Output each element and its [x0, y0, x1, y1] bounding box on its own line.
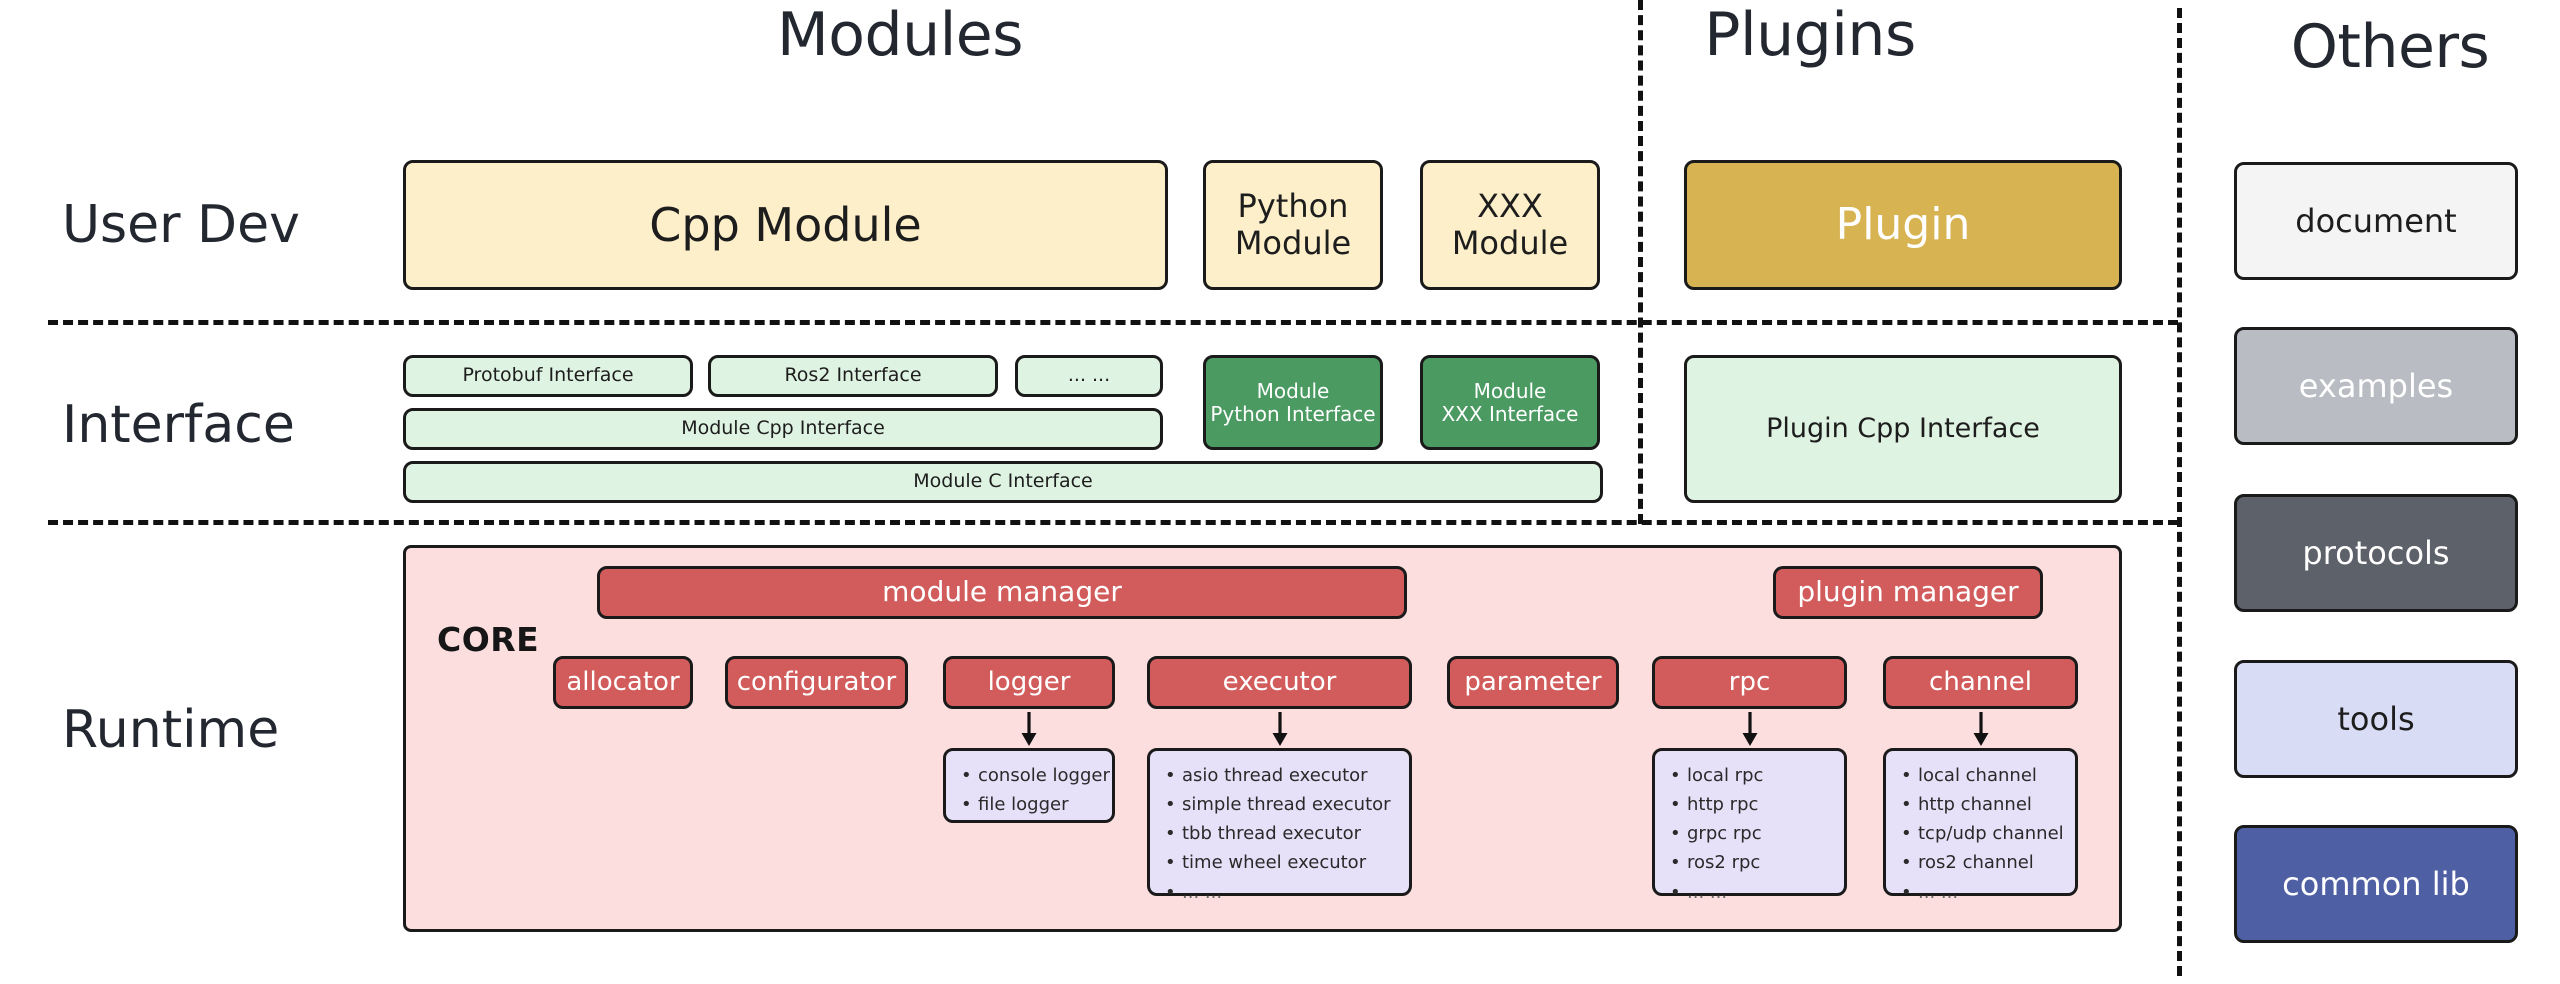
list-item: http channel — [1918, 790, 2067, 819]
list-item: ros2 channel — [1918, 848, 2067, 877]
logger-details-list: console loggerfile logger — [956, 761, 1104, 819]
xxx-module-label-line1: XXX — [1477, 188, 1543, 225]
list-item: simple thread executor — [1182, 790, 1401, 819]
rpc-details-list: local rpchttp rpcgrpc rpcros2 rpc... ... — [1665, 761, 1836, 907]
module-python-interface-line1: Module — [1257, 380, 1330, 403]
list-item: console logger — [978, 761, 1104, 790]
divider-interface-runtime — [48, 520, 2178, 525]
others-item-document[interactable]: document — [2234, 162, 2518, 280]
column-title-others: Others — [2230, 12, 2550, 82]
list-item: ... ... — [1687, 878, 1836, 907]
others-item-protocols[interactable]: protocols — [2234, 494, 2518, 612]
plugin-cpp-interface-box[interactable]: Plugin Cpp Interface — [1684, 355, 2122, 503]
component-allocator[interactable]: allocator — [553, 656, 693, 709]
ellipsis-interface-box[interactable]: ... ... — [1015, 355, 1163, 397]
core-label: CORE — [437, 620, 539, 659]
xxx-module-box[interactable]: XXX Module — [1420, 160, 1600, 290]
column-title-modules: Modules — [700, 0, 1100, 70]
component-configurator[interactable]: configurator — [725, 656, 908, 709]
list-item: asio thread executor — [1182, 761, 1401, 790]
component-rpc[interactable]: rpc — [1652, 656, 1847, 709]
others-item-tools[interactable]: tools — [2234, 660, 2518, 778]
component-channel[interactable]: channel — [1883, 656, 2078, 709]
divider-modules-plugins — [1638, 0, 1643, 524]
list-item: http rpc — [1687, 790, 1836, 819]
component-logger[interactable]: logger — [943, 656, 1115, 709]
channel-details-list: local channelhttp channeltcp/udp channel… — [1896, 761, 2067, 907]
list-item: ros2 rpc — [1687, 848, 1836, 877]
arrow-down-executor — [1267, 712, 1293, 748]
python-module-box[interactable]: Python Module — [1203, 160, 1383, 290]
others-item-common-lib[interactable]: common lib — [2234, 825, 2518, 943]
xxx-module-label-line2: Module — [1452, 225, 1568, 262]
list-item: tcp/udp channel — [1918, 819, 2067, 848]
column-title-plugins: Plugins — [1660, 0, 1960, 70]
list-item: local channel — [1918, 761, 2067, 790]
arrow-down-logger — [1016, 712, 1042, 748]
list-item: tbb thread executor — [1182, 819, 1401, 848]
row-label-runtime: Runtime — [62, 700, 279, 760]
list-item: ... ... — [1918, 878, 2067, 907]
divider-plugins-others — [2177, 8, 2182, 976]
architecture-diagram: Modules Plugins Others User Dev Interfac… — [0, 0, 2560, 984]
others-item-examples[interactable]: examples — [2234, 327, 2518, 445]
list-item: time wheel executor — [1182, 848, 1401, 877]
module-c-interface-box[interactable]: Module C Interface — [403, 461, 1603, 503]
executor-details-box: asio thread executorsimple thread execut… — [1147, 748, 1412, 896]
executor-details-list: asio thread executorsimple thread execut… — [1160, 761, 1401, 907]
logger-details-box: console loggerfile logger — [943, 748, 1115, 823]
list-item: local rpc — [1687, 761, 1836, 790]
protobuf-interface-box[interactable]: Protobuf Interface — [403, 355, 693, 397]
arrow-down-channel — [1968, 712, 1994, 748]
component-parameter[interactable]: parameter — [1447, 656, 1619, 709]
module-manager-box[interactable]: module manager — [597, 566, 1407, 619]
module-cpp-interface-box[interactable]: Module Cpp Interface — [403, 408, 1163, 450]
module-xxx-interface-line2: XXX Interface — [1441, 403, 1578, 426]
rpc-details-box: local rpchttp rpcgrpc rpcros2 rpc... ... — [1652, 748, 1847, 896]
list-item: file logger — [978, 790, 1104, 819]
python-module-label-line2: Module — [1235, 225, 1351, 262]
row-label-interface: Interface — [62, 395, 295, 455]
arrow-down-rpc — [1737, 712, 1763, 748]
list-item: ... ... — [1182, 878, 1401, 907]
module-python-interface-line2: Python Interface — [1210, 403, 1375, 426]
channel-details-box: local channelhttp channeltcp/udp channel… — [1883, 748, 2078, 896]
list-item: grpc rpc — [1687, 819, 1836, 848]
row-label-user-dev: User Dev — [62, 195, 300, 255]
plugin-box[interactable]: Plugin — [1684, 160, 2122, 290]
cpp-module-box[interactable]: Cpp Module — [403, 160, 1168, 290]
ros2-interface-box[interactable]: Ros2 Interface — [708, 355, 998, 397]
python-module-label-line1: Python — [1238, 188, 1349, 225]
component-executor[interactable]: executor — [1147, 656, 1412, 709]
divider-userdev-interface — [48, 320, 2178, 325]
module-python-interface-box[interactable]: Module Python Interface — [1203, 355, 1383, 450]
module-xxx-interface-box[interactable]: Module XXX Interface — [1420, 355, 1600, 450]
plugin-manager-box[interactable]: plugin manager — [1773, 566, 2043, 619]
module-xxx-interface-line1: Module — [1474, 380, 1547, 403]
